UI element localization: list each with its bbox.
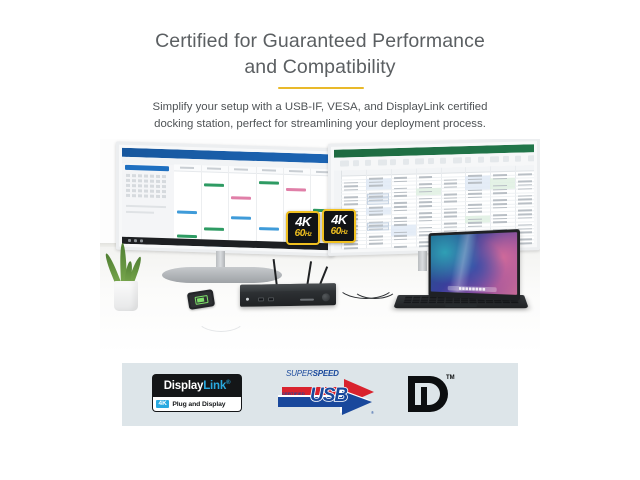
usb-certified-text: CERTIFIED (282, 391, 305, 396)
displaylink-logo: DisplayLink® 4K Plug and Display (152, 374, 242, 412)
displaylink-brand-part2: Link (203, 380, 226, 392)
usb-port (258, 297, 264, 301)
power-led-icon (246, 298, 249, 301)
usb-superspeed-text: SUPERSPEED (286, 369, 339, 378)
superspeed-usb-logo: SUPERSPEED CERTIFIED USB ® (274, 369, 382, 419)
displayport-trademark: TM (446, 375, 455, 381)
page-title: Certified for Guaranteed Performance and… (0, 28, 640, 80)
laptop (398, 229, 528, 329)
displaylink-wordmark: DisplayLink® (152, 374, 242, 397)
product-feature-card: Certified for Guaranteed Performance and… (0, 0, 640, 480)
new-event-button (125, 165, 169, 171)
left-monitor-stand-base (162, 267, 282, 283)
displayport-logo: TM (406, 374, 466, 414)
dock-cable (352, 275, 398, 299)
mini-calendar (126, 174, 170, 201)
usb-port (268, 297, 274, 301)
plant-pot (114, 281, 138, 311)
badge-resolution: 4K (324, 214, 354, 225)
displayport-glyph (406, 374, 448, 414)
displaylink-tagline: Plug and Display (172, 401, 225, 408)
nav-line (126, 211, 154, 214)
battery-charging-icon (194, 295, 208, 305)
docking-station-top (240, 283, 336, 292)
badge-refresh: 60Hz (288, 229, 318, 240)
laptop-trackpad (445, 304, 477, 307)
product-photo: 4K 60Hz 4K 60Hz (100, 139, 540, 354)
badge-4k-60hz: 4K 60Hz (286, 211, 320, 245)
dock-brand-mark (300, 299, 314, 301)
displaylink-4k-badge: 4K (156, 400, 169, 409)
page-subheading-line2: docking station, perfect for streamlinin… (70, 116, 570, 133)
page-title-line1: Certified for Guaranteed Performance (155, 30, 485, 52)
laptop-lid (429, 229, 520, 301)
potted-plant (108, 239, 144, 311)
displaylink-tagline-bar: 4K Plug and Display (152, 397, 242, 412)
charging-cable (196, 304, 246, 332)
badge-refresh: 60Hz (324, 227, 354, 238)
calendar-nav-pane (122, 163, 175, 239)
usb-wordmark: USB (310, 385, 347, 407)
badge-4k-60hz: 4K 60Hz (322, 209, 356, 243)
displaylink-brand-part1: Display (164, 380, 204, 392)
badge-resolution: 4K (288, 216, 318, 227)
page-title-line2: and Compatibility (0, 54, 640, 80)
page-subheading-line1: Simplify your setup with a USB-IF, VESA,… (153, 101, 488, 113)
nav-line (126, 205, 166, 208)
laptop-screen (431, 232, 517, 295)
certification-logo-band: DisplayLink® 4K Plug and Display SUPERSP… (122, 363, 518, 426)
dock-dial (322, 293, 330, 301)
usb-trademark: ® (371, 410, 374, 415)
docking-station (240, 283, 336, 307)
displaylink-trademark: ® (226, 380, 230, 386)
page-subheading: Simplify your setup with a USB-IF, VESA,… (70, 99, 570, 132)
title-divider (278, 87, 364, 89)
